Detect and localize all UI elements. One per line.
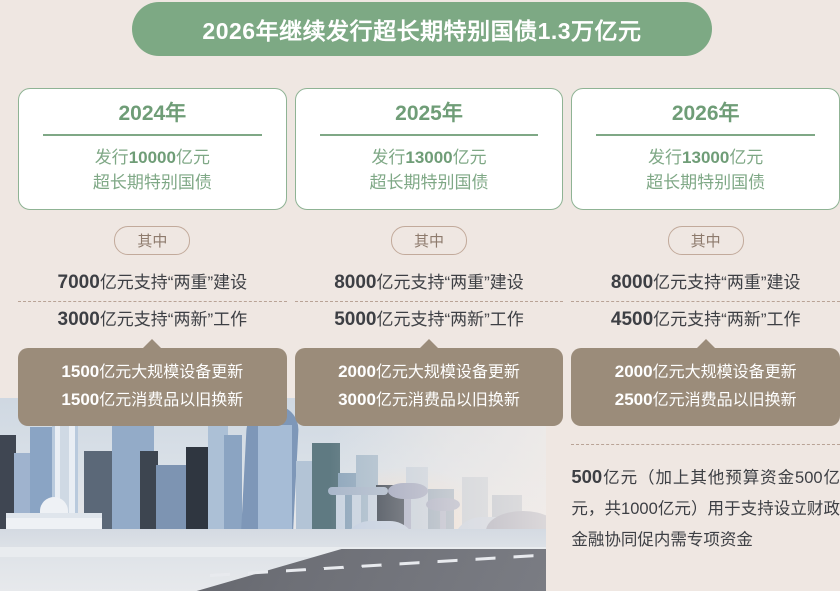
breakdown-line: 3000亿元消费品以旧换新	[303, 386, 556, 414]
issue-prefix: 发行	[371, 148, 405, 167]
row-separator	[295, 301, 564, 302]
issue-amount-line: 发行13000亿元	[586, 145, 825, 170]
detail-row: 8000亿元支持“两重”建设	[571, 267, 840, 299]
among-badge-wrap: 其中	[571, 226, 840, 255]
issue-prefix: 发行	[648, 148, 682, 167]
issue-type: 超长期特别国债	[33, 170, 272, 195]
breakdown-box: 1500亿元大规模设备更新 1500亿元消费品以旧换新	[18, 348, 287, 426]
detail-row: 7000亿元支持“两重”建设	[18, 267, 287, 299]
detail-row: 8000亿元支持“两重”建设	[295, 267, 564, 299]
year-card: 2024年 发行10000亿元 超长期特别国债	[18, 88, 287, 210]
row-separator	[18, 301, 287, 302]
card-divider	[596, 134, 815, 136]
detail-amount: 4500	[611, 309, 653, 330]
breakdown-box: 2000亿元大规模设备更新 2500亿元消费品以旧换新	[571, 348, 840, 426]
breakdown-amount: 2500	[615, 390, 653, 409]
box-arrow-icon	[697, 339, 715, 348]
box-arrow-icon	[143, 339, 161, 348]
breakdown-line: 1500亿元消费品以旧换新	[26, 386, 279, 414]
breakdown-line: 2000亿元大规模设备更新	[579, 358, 832, 386]
issue-suffix: 亿元	[729, 148, 763, 167]
card-divider	[320, 134, 539, 136]
issue-prefix: 发行	[95, 148, 129, 167]
issue-amount: 13000	[405, 148, 452, 167]
detail-text: 亿元支持“两新”工作	[376, 310, 523, 329]
detail-amount: 8000	[611, 272, 653, 293]
breakdown-box-wrap: 2000亿元大规模设备更新 2500亿元消费品以旧换新	[571, 348, 840, 426]
breakdown-text: 亿元大规模设备更新	[653, 364, 797, 381]
issue-type: 超长期特别国债	[586, 170, 825, 195]
year-label: 2025年	[310, 99, 549, 129]
note-separator	[571, 444, 840, 445]
year-label: 2026年	[586, 99, 825, 129]
among-badge: 其中	[114, 226, 190, 255]
infographic-page: 2026年继续发行超长期特别国债1.3万亿元 2024年 发行10000亿元 超…	[0, 0, 840, 591]
breakdown-text: 亿元大规模设备更新	[99, 364, 243, 381]
among-badge-wrap: 其中	[18, 226, 287, 255]
breakdown-box-wrap: 2000亿元大规模设备更新 3000亿元消费品以旧换新	[295, 348, 564, 426]
detail-text: 亿元支持“两重”建设	[376, 273, 523, 292]
row-separator	[571, 301, 840, 302]
note-amount: 500	[571, 466, 602, 487]
among-badge-wrap: 其中	[295, 226, 564, 255]
detail-rows: 7000亿元支持“两重”建设 3000亿元支持“两新”工作	[18, 267, 287, 336]
detail-rows: 8000亿元支持“两重”建设 4500亿元支持“两新”工作	[571, 267, 840, 336]
year-card: 2025年 发行13000亿元 超长期特别国债	[295, 88, 564, 210]
among-badge: 其中	[668, 226, 744, 255]
among-badge: 其中	[391, 226, 467, 255]
breakdown-text: 亿元消费品以旧换新	[653, 392, 797, 409]
extra-note: 500亿元（加上其他预算资金500亿元，共1000亿元）用于支持设立财政金融协同…	[571, 461, 840, 556]
breakdown-amount: 1500	[61, 362, 99, 381]
year-label: 2024年	[33, 99, 272, 129]
issue-amount-line: 发行13000亿元	[310, 145, 549, 170]
issue-suffix: 亿元	[453, 148, 487, 167]
breakdown-amount: 3000	[338, 390, 376, 409]
issue-type: 超长期特别国债	[310, 170, 549, 195]
breakdown-box-wrap: 1500亿元大规模设备更新 1500亿元消费品以旧换新	[18, 348, 287, 426]
box-arrow-icon	[420, 339, 438, 348]
year-column-2024: 2024年 发行10000亿元 超长期特别国债 其中 7000亿元支持“两重”建…	[18, 88, 287, 556]
breakdown-amount: 1500	[61, 390, 99, 409]
detail-amount: 8000	[334, 272, 376, 293]
page-title: 2026年继续发行超长期特别国债1.3万亿元	[202, 12, 641, 46]
detail-row: 5000亿元支持“两新”工作	[295, 304, 564, 336]
breakdown-amount: 2000	[338, 362, 376, 381]
note-text: 亿元（加上其他预算资金500亿元，共1000亿元）用于支持设立财政金融协同促内需…	[571, 469, 840, 549]
detail-text: 亿元支持“两重”建设	[100, 273, 247, 292]
breakdown-text: 亿元消费品以旧换新	[376, 392, 520, 409]
year-column-2025: 2025年 发行13000亿元 超长期特别国债 其中 8000亿元支持“两重”建…	[295, 88, 564, 556]
issue-amount-line: 发行10000亿元	[33, 145, 272, 170]
detail-amount: 5000	[334, 309, 376, 330]
issue-amount: 10000	[129, 148, 176, 167]
breakdown-box: 2000亿元大规模设备更新 3000亿元消费品以旧换新	[295, 348, 564, 426]
year-columns: 2024年 发行10000亿元 超长期特别国债 其中 7000亿元支持“两重”建…	[0, 88, 840, 556]
year-column-2026: 2026年 发行13000亿元 超长期特别国债 其中 8000亿元支持“两重”建…	[571, 88, 840, 556]
title-banner: 2026年继续发行超长期特别国债1.3万亿元	[132, 2, 712, 56]
breakdown-amount: 2000	[615, 362, 653, 381]
breakdown-line: 2500亿元消费品以旧换新	[579, 386, 832, 414]
detail-amount: 7000	[58, 272, 100, 293]
breakdown-text: 亿元消费品以旧换新	[99, 392, 243, 409]
detail-text: 亿元支持“两重”建设	[653, 273, 800, 292]
breakdown-text: 亿元大规模设备更新	[376, 364, 520, 381]
detail-text: 亿元支持“两新”工作	[653, 310, 800, 329]
detail-row: 4500亿元支持“两新”工作	[571, 304, 840, 336]
issue-suffix: 亿元	[176, 148, 210, 167]
breakdown-line: 1500亿元大规模设备更新	[26, 358, 279, 386]
issue-amount: 13000	[682, 148, 729, 167]
detail-amount: 3000	[58, 309, 100, 330]
breakdown-line: 2000亿元大规模设备更新	[303, 358, 556, 386]
detail-row: 3000亿元支持“两新”工作	[18, 304, 287, 336]
detail-text: 亿元支持“两新”工作	[100, 310, 247, 329]
card-divider	[43, 134, 262, 136]
year-card: 2026年 发行13000亿元 超长期特别国债	[571, 88, 840, 210]
detail-rows: 8000亿元支持“两重”建设 5000亿元支持“两新”工作	[295, 267, 564, 336]
